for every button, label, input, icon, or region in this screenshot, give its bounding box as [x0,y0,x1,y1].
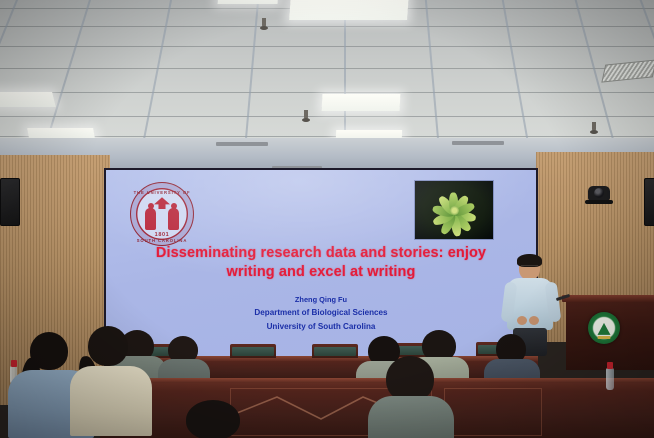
ptz-camera-icon [588,186,610,201]
university-of-south-carolina-seal-icon: THE UNIVERSITY OF 1801 SOUTH CAROLINA [130,182,194,246]
eyeglasses-icon [521,265,538,270]
presenter-name: Zheng Qing Fu [149,294,493,306]
desk-front-panel [444,388,542,436]
seal-tree-icon [154,197,170,209]
presenter-hand-left [517,316,527,325]
audience-chair [230,344,276,358]
ceiling-light-panel [0,92,56,107]
seal-bottom-text: SOUTH CAROLINA [131,238,193,243]
university-emblem-green-icon [588,312,620,344]
sprinkler-head [592,122,596,131]
rosette-center [450,206,459,215]
sprinkler-head [304,110,308,119]
slide-title: Disseminating research data and stories:… [140,244,501,281]
presentation-slide: THE UNIVERSITY OF 1801 SOUTH CAROLINA [106,170,536,366]
seal-figure-left [145,208,156,230]
seal-top-text: THE UNIVERSITY OF [131,190,193,195]
ceiling-light-panel [217,0,278,4]
water-bottle [606,368,614,390]
ceiling-light-panel [289,0,409,20]
lectern-top [562,295,654,302]
audience-chair [312,344,358,358]
seal-figures [144,200,180,230]
slide-byline: Zheng Qing Fu Department of Biological S… [149,294,493,332]
seal-figure-right [168,208,179,230]
projection-screen: THE UNIVERSITY OF 1801 SOUTH CAROLINA [104,168,538,368]
ceiling-light-panel [322,94,401,111]
presenter-department: Department of Biological Sciences [149,306,493,319]
slide-title-line-2: writing and excel at writing [140,263,501,282]
wall-speaker-left [0,178,20,226]
air-vent [601,59,654,82]
lectern [566,300,654,370]
lecture-hall-screenshot: THE UNIVERSITY OF 1801 SOUTH CAROLINA [0,0,654,438]
ceiling-light-panel [27,128,95,138]
suspended-grid-ceiling [0,0,654,152]
sprinkler-head [262,18,266,27]
presenter-hand-right [529,316,539,325]
arabidopsis-rosette-photo [414,180,494,240]
slide-title-line-1: Disseminating research data and stories:… [140,244,501,263]
wall-speaker-right [644,178,654,226]
